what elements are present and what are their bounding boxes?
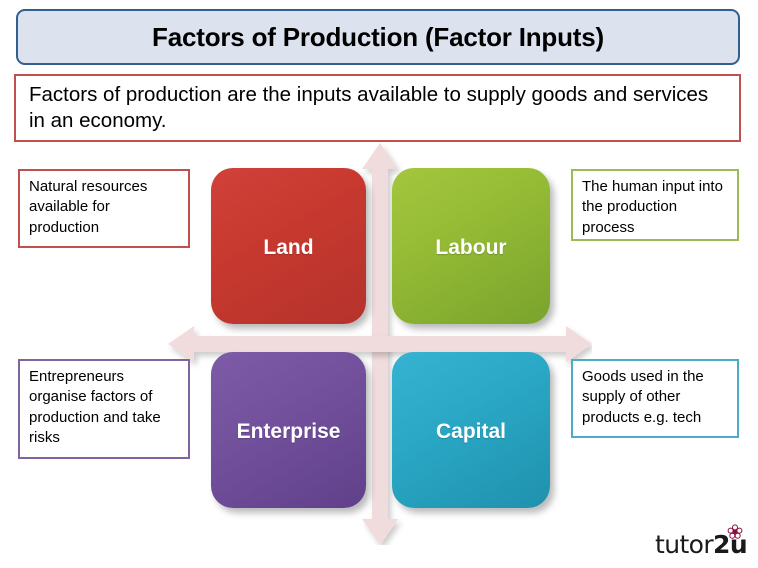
- slide-title-banner: Factors of Production (Factor Inputs): [16, 9, 740, 65]
- quadrant-labour-label: Labour: [435, 237, 506, 258]
- quadrant-enterprise[interactable]: Enterprise: [211, 352, 366, 508]
- quadrant-labour[interactable]: Labour: [392, 168, 550, 324]
- note-land: Natural resources available for producti…: [18, 169, 190, 248]
- quadrant-enterprise-label: Enterprise: [237, 421, 341, 442]
- slide-canvas: Factors of Production (Factor Inputs) Fa…: [0, 0, 758, 568]
- note-capital-text: Goods used in the supply of other produc…: [582, 367, 729, 428]
- note-labour-text: The human input into the production proc…: [582, 177, 729, 238]
- page-title: Factors of Production (Factor Inputs): [152, 24, 604, 50]
- quadrant-capital[interactable]: Capital: [392, 352, 550, 508]
- logo-brand-light: tutor: [655, 530, 713, 559]
- quadrant-capital-label: Capital: [436, 421, 506, 442]
- note-enterprise-text: Entrepreneurs organise factors of produc…: [29, 367, 180, 448]
- quadrant-land[interactable]: Land: [211, 168, 366, 324]
- note-enterprise: Entrepreneurs organise factors of produc…: [18, 359, 190, 459]
- tutor2u-logo: tutor2u: [655, 529, 747, 561]
- definition-text: Factors of production are the inputs ava…: [29, 82, 727, 134]
- definition-box: Factors of production are the inputs ava…: [14, 74, 741, 142]
- flower-icon: [727, 524, 743, 540]
- note-labour: The human input into the production proc…: [571, 169, 739, 241]
- note-land-text: Natural resources available for producti…: [29, 177, 180, 238]
- quadrant-land-label: Land: [263, 237, 313, 258]
- note-capital: Goods used in the supply of other produc…: [571, 359, 739, 438]
